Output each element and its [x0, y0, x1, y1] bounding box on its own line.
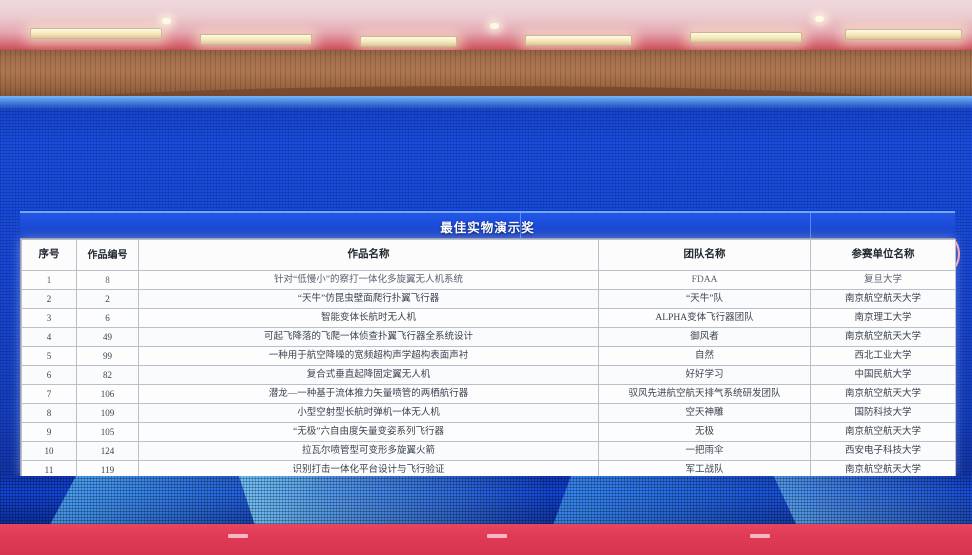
cell-work-name: “无极”六自由度矢量变姿系列飞行器 [139, 423, 599, 442]
led-beam [39, 476, 322, 524]
table-row: 682复合式垂直起降固定翼无人机好好学习中国民航大学 [22, 366, 956, 385]
cell-work-name: 潜龙—一种基于流体推力矢量喷管的两栖航行器 [139, 385, 599, 404]
cell-no: 10 [22, 442, 77, 461]
cell-no: 1 [22, 271, 77, 290]
column-header-team-name: 团队名称 [599, 240, 811, 271]
column-header-work-name: 作品名称 [139, 240, 599, 271]
table-row: 449可起飞降落的飞爬一体侦查扑翼飞行器全系统设计御风者南京航空航天大学 [22, 328, 956, 347]
led-lower-graphics [0, 476, 972, 524]
column-header-work-id: 作品编号 [77, 240, 139, 271]
cell-work-id: 2 [77, 290, 139, 309]
cell-university: 南京航空航天大学 [811, 328, 956, 347]
cell-no: 5 [22, 347, 77, 366]
cell-work-id: 6 [77, 309, 139, 328]
cell-team-name: FDAA [599, 271, 811, 290]
table-row: 10124拉瓦尔喷管型可变形多旋翼火箭一把雨伞西安电子科技大学 [22, 442, 956, 461]
table-row: 22“天牛”仿昆虫壁面爬行扑翼飞行器“天牛”队南京航空航天大学 [22, 290, 956, 309]
cell-team-name: 一把雨伞 [599, 442, 811, 461]
column-header-university: 参赛单位名称 [811, 240, 956, 271]
cell-team-name: ALPHA变体飞行器团队 [599, 309, 811, 328]
ceiling-light [845, 29, 962, 40]
cell-work-id: 82 [77, 366, 139, 385]
cell-work-id: 124 [77, 442, 139, 461]
cell-work-name: 复合式垂直起降固定翼无人机 [139, 366, 599, 385]
photo-scene: CPIPC 中国研究生 创新实践系列大赛 “飞鲨杯” 第七届中国研究生未来飞行器… [0, 0, 972, 555]
cell-no: 3 [22, 309, 77, 328]
cell-work-name: 小型空射型长航时弹机一体无人机 [139, 404, 599, 423]
table-row: 599一种用于航空降噪的宽频超构声学超构表面声衬自然西北工业大学 [22, 347, 956, 366]
led-beam [237, 476, 563, 524]
event-banner: CPIPC 中国研究生 创新实践系列大赛 “飞鲨杯” 第七届中国研究生未来飞行器… [0, 100, 972, 208]
cell-work-name: “天牛”仿昆虫壁面爬行扑翼飞行器 [139, 290, 599, 309]
ceiling-spotlight [162, 18, 171, 24]
cell-work-id: 109 [77, 404, 139, 423]
ceiling-light [200, 34, 312, 45]
cell-work-name: 针对“低慢小”的察打一体化多旋翼无人机系统 [139, 271, 599, 290]
cell-university: 西安电子科技大学 [811, 442, 956, 461]
cell-work-name: 一种用于航空降噪的宽频超构声学超构表面声衬 [139, 347, 599, 366]
cell-team-name: 驭风先进航空航天排气系统研发团队 [599, 385, 811, 404]
stage-floor [0, 524, 972, 555]
cell-team-name: 好好学习 [599, 366, 811, 385]
award-title-bar: 最佳实物演示奖 [20, 211, 955, 240]
cell-work-id: 99 [77, 347, 139, 366]
cell-no: 9 [22, 423, 77, 442]
cell-team-name: 空天神雕 [599, 404, 811, 423]
floor-marker [228, 534, 248, 538]
ceiling [0, 0, 972, 52]
floor-marker [750, 534, 770, 538]
ceiling-light [30, 28, 162, 39]
table-row: 18针对“低慢小”的察打一体化多旋翼无人机系统FDAA复旦大学 [22, 271, 956, 290]
cell-university: 南京理工大学 [811, 309, 956, 328]
cell-no: 6 [22, 366, 77, 385]
table-body: 18针对“低慢小”的察打一体化多旋翼无人机系统FDAA复旦大学22“天牛”仿昆虫… [22, 271, 956, 480]
cell-team-name: 御风者 [599, 328, 811, 347]
ceiling-light [360, 36, 457, 47]
cell-team-name: “天牛”队 [599, 290, 811, 309]
cell-no: 7 [22, 385, 77, 404]
cell-no: 8 [22, 404, 77, 423]
cell-no: 2 [22, 290, 77, 309]
cell-university: 南京航空航天大学 [811, 423, 956, 442]
led-beam [545, 476, 836, 524]
cell-university: 中国民航大学 [811, 366, 956, 385]
floor-marker [487, 534, 507, 538]
table-header-row: 序号 作品编号 作品名称 团队名称 参赛单位名称 [22, 240, 956, 271]
cell-work-id: 105 [77, 423, 139, 442]
cell-work-name: 智能变体长航时无人机 [139, 309, 599, 328]
cell-work-name: 可起飞降落的飞爬一体侦查扑翼飞行器全系统设计 [139, 328, 599, 347]
cell-work-id: 106 [77, 385, 139, 404]
ceiling-light [525, 35, 632, 46]
results-table-container: 序号 作品编号 作品名称 团队名称 参赛单位名称 18针对“低慢小”的察打一体化… [20, 238, 955, 476]
award-title: 最佳实物演示奖 [20, 213, 955, 240]
ceiling-light [690, 32, 802, 43]
ceiling-spotlight [815, 16, 824, 22]
cell-work-id: 49 [77, 328, 139, 347]
cell-university: 国防科技大学 [811, 404, 956, 423]
results-table: 序号 作品编号 作品名称 团队名称 参赛单位名称 18针对“低慢小”的察打一体化… [21, 239, 956, 480]
table-row: 36智能变体长航时无人机ALPHA变体飞行器团队南京理工大学 [22, 309, 956, 328]
table-row: 7106潜龙—一种基于流体推力矢量喷管的两栖航行器驭风先进航空航天排气系统研发团… [22, 385, 956, 404]
cell-team-name: 自然 [599, 347, 811, 366]
cell-university: 南京航空航天大学 [811, 385, 956, 404]
ceiling-spotlight [490, 23, 499, 29]
cell-work-id: 8 [77, 271, 139, 290]
cell-team-name: 无极 [599, 423, 811, 442]
cell-no: 4 [22, 328, 77, 347]
cell-university: 西北工业大学 [811, 347, 956, 366]
cell-university: 南京航空航天大学 [811, 290, 956, 309]
table-row: 8109小型空射型长航时弹机一体无人机空天神雕国防科技大学 [22, 404, 956, 423]
cell-university: 复旦大学 [811, 271, 956, 290]
cell-work-name: 拉瓦尔喷管型可变形多旋翼火箭 [139, 442, 599, 461]
column-header-no: 序号 [22, 240, 77, 271]
table-row: 9105“无极”六自由度矢量变姿系列飞行器无极南京航空航天大学 [22, 423, 956, 442]
led-beam [772, 476, 972, 524]
